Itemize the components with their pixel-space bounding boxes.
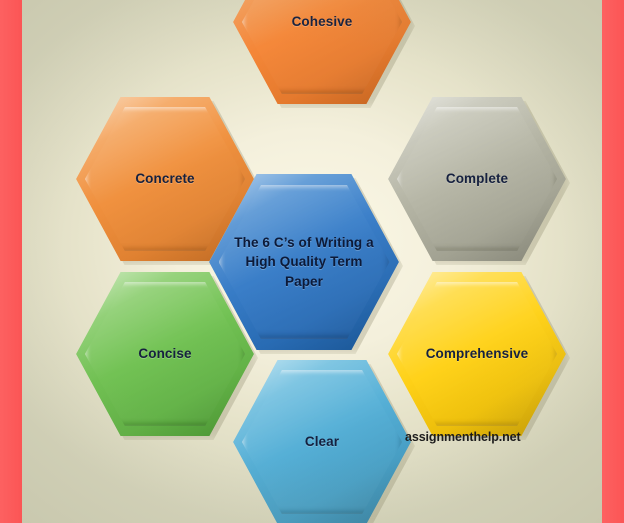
hex-label-clear: Clear xyxy=(280,433,364,451)
infographic-stage: Cohesive Complete Comprehensive Clear xyxy=(0,0,624,523)
hex-label-comprehensive: Comprehensive xyxy=(401,345,553,363)
left-border-bar xyxy=(0,0,22,523)
hex-label-center: The 6 C’s of Writing a High Quality Term… xyxy=(209,233,399,292)
diagram-canvas: Cohesive Complete Comprehensive Clear xyxy=(22,0,602,523)
hex-cell-cohesive[interactable]: Cohesive xyxy=(233,0,411,104)
hex-label-concise: Concise xyxy=(113,345,216,363)
hex-label-complete: Complete xyxy=(421,170,533,188)
hex-label-concrete: Concrete xyxy=(110,170,219,188)
hex-label-cohesive: Cohesive xyxy=(267,13,378,31)
right-border-bar xyxy=(602,0,624,523)
watermark-text: assignmenthelp.net xyxy=(405,430,521,444)
